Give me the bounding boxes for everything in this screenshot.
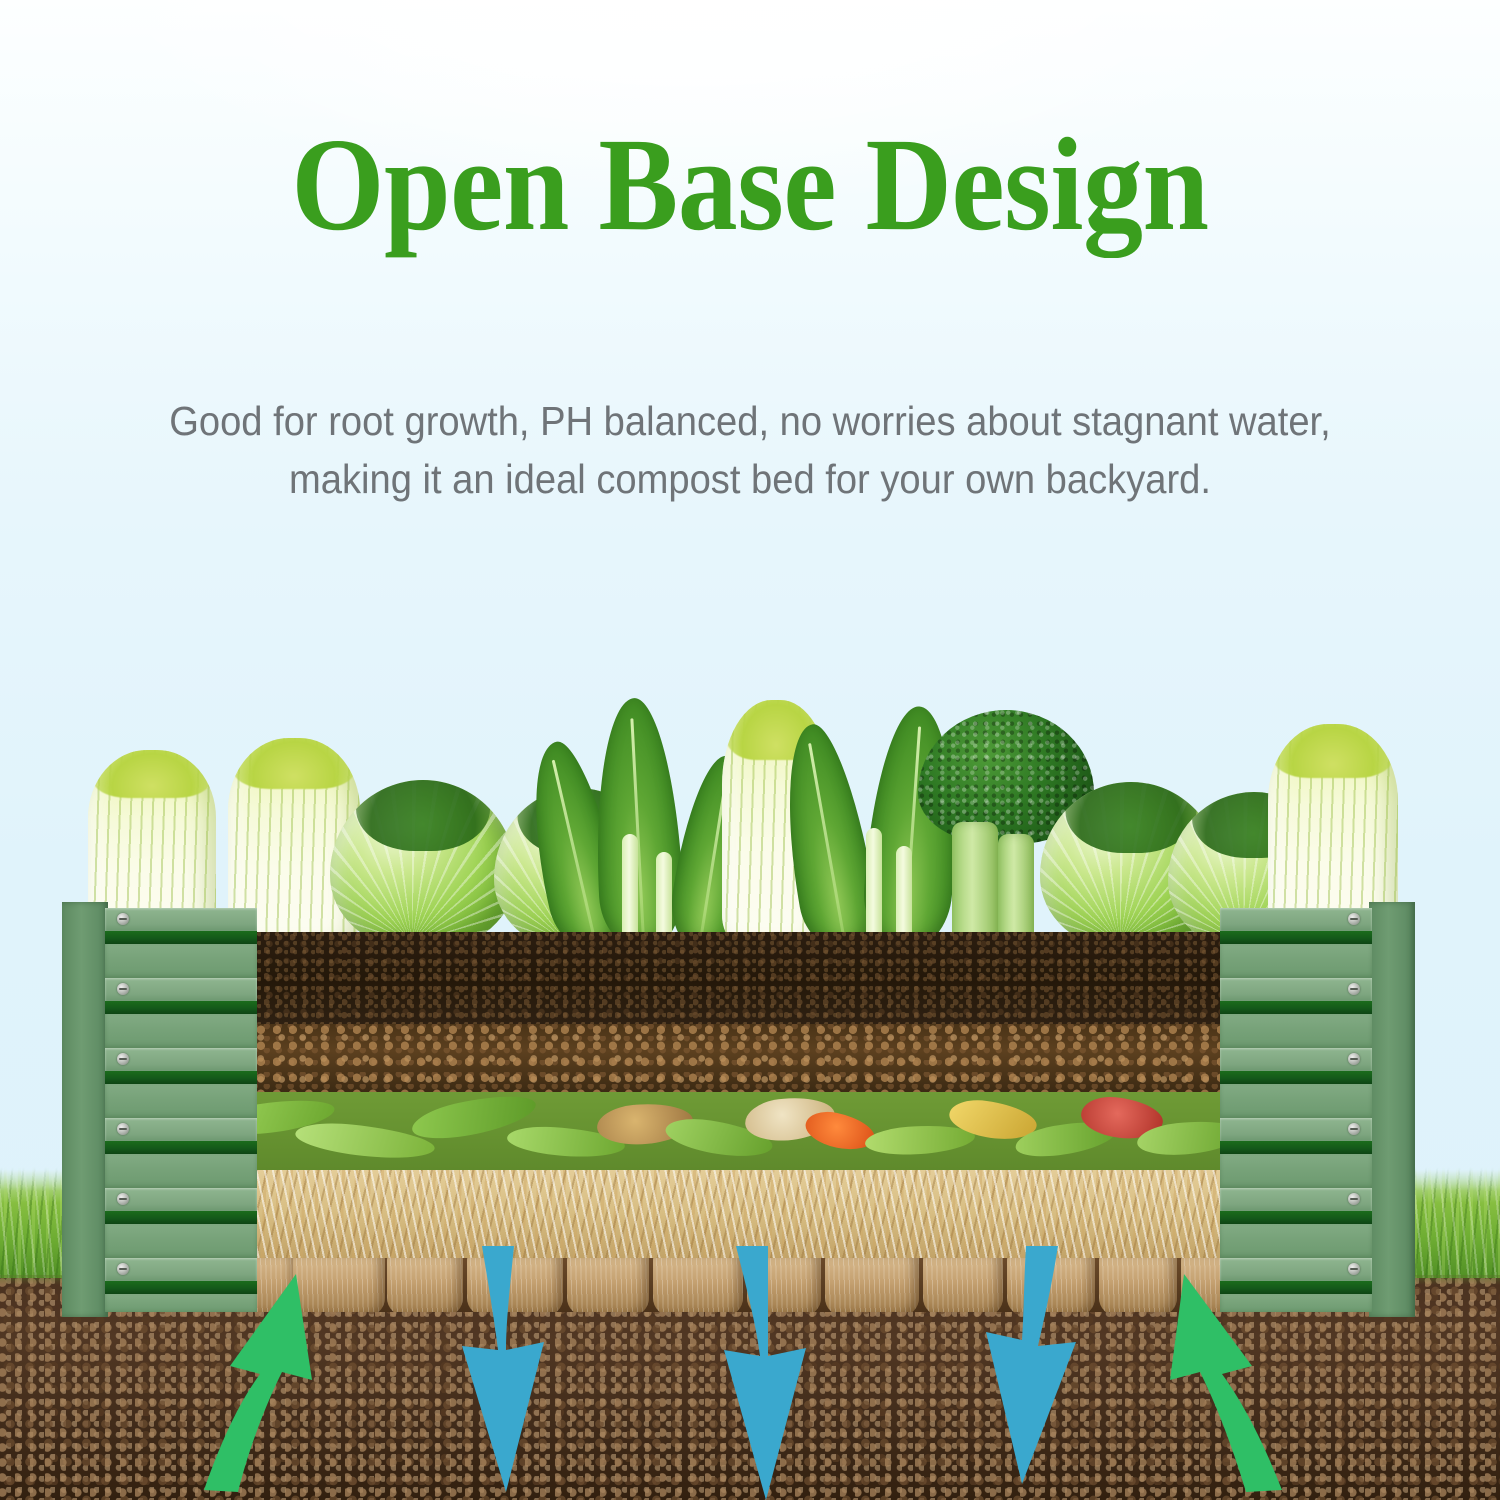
arrow-up-green-icon xyxy=(1130,1262,1300,1492)
slat xyxy=(105,1154,257,1188)
slat xyxy=(1220,1154,1372,1188)
layer-straw xyxy=(225,1170,1220,1258)
panel-screw xyxy=(117,1263,129,1275)
arrow-down-blue-icon xyxy=(448,1246,568,1494)
bed-panel-left xyxy=(62,902,257,1317)
slat xyxy=(1220,944,1372,978)
slat-rib xyxy=(1220,1141,1372,1154)
panel-screw xyxy=(117,1123,129,1135)
subtitle-line-2: making it an ideal compost bed for your … xyxy=(118,450,1383,508)
slat-rib xyxy=(105,1211,257,1224)
panel-screw xyxy=(117,913,129,925)
airflow-arrow-right xyxy=(1130,1262,1300,1492)
panel-screw xyxy=(1348,983,1360,995)
panel-slats xyxy=(105,908,257,1312)
slat-rib xyxy=(105,931,257,944)
slat xyxy=(105,1084,257,1118)
slat-rib xyxy=(1220,1071,1372,1084)
panel-screw xyxy=(1348,1053,1360,1065)
drainage-arrow-3 xyxy=(972,1246,1092,1486)
arrow-down-blue-icon xyxy=(706,1246,826,1500)
page-title: Open Base Design xyxy=(75,118,1425,251)
slat xyxy=(1220,1224,1372,1258)
layer-vegetable-scraps xyxy=(225,1092,1220,1170)
slat-rib xyxy=(105,1001,257,1014)
panel-screw xyxy=(117,1193,129,1205)
subtitle-line-1: Good for root growth, PH balanced, no wo… xyxy=(118,392,1383,450)
airflow-arrow-left xyxy=(186,1262,346,1492)
log xyxy=(825,1258,919,1312)
arrow-down-blue-icon xyxy=(972,1246,1092,1486)
panel-slats xyxy=(1220,908,1372,1312)
layer-topsoil xyxy=(225,932,1220,1024)
slat xyxy=(105,1224,257,1258)
panel-screw xyxy=(1348,913,1360,925)
panel-screw xyxy=(1348,1193,1360,1205)
slat-rib xyxy=(1220,1211,1372,1224)
drainage-arrow-1 xyxy=(448,1246,568,1494)
panel-screw xyxy=(117,1053,129,1065)
drainage-arrow-2 xyxy=(706,1246,826,1500)
arrow-up-green-icon xyxy=(186,1262,346,1492)
page-subtitle: Good for root growth, PH balanced, no wo… xyxy=(70,392,1430,508)
scrap xyxy=(802,1107,878,1155)
slat-rib xyxy=(105,1141,257,1154)
panel-screw xyxy=(117,983,129,995)
slat xyxy=(105,944,257,978)
corner-post xyxy=(1369,902,1415,1317)
slat xyxy=(1220,1014,1372,1048)
panel-screw xyxy=(1348,1263,1360,1275)
panel-screw xyxy=(1348,1123,1360,1135)
vegetable-row xyxy=(0,620,1500,950)
corner-post xyxy=(62,902,108,1317)
slat xyxy=(1220,1084,1372,1118)
bed-panel-right xyxy=(1220,902,1415,1317)
log xyxy=(567,1258,649,1312)
slat xyxy=(105,1014,257,1048)
layer-compost-mix xyxy=(225,1024,1220,1092)
promo-banner: Open Base Design Good for root growth, P… xyxy=(0,0,1500,1500)
slat-rib xyxy=(1220,1001,1372,1014)
slat-rib xyxy=(105,1071,257,1084)
slat-rib xyxy=(1220,931,1372,944)
